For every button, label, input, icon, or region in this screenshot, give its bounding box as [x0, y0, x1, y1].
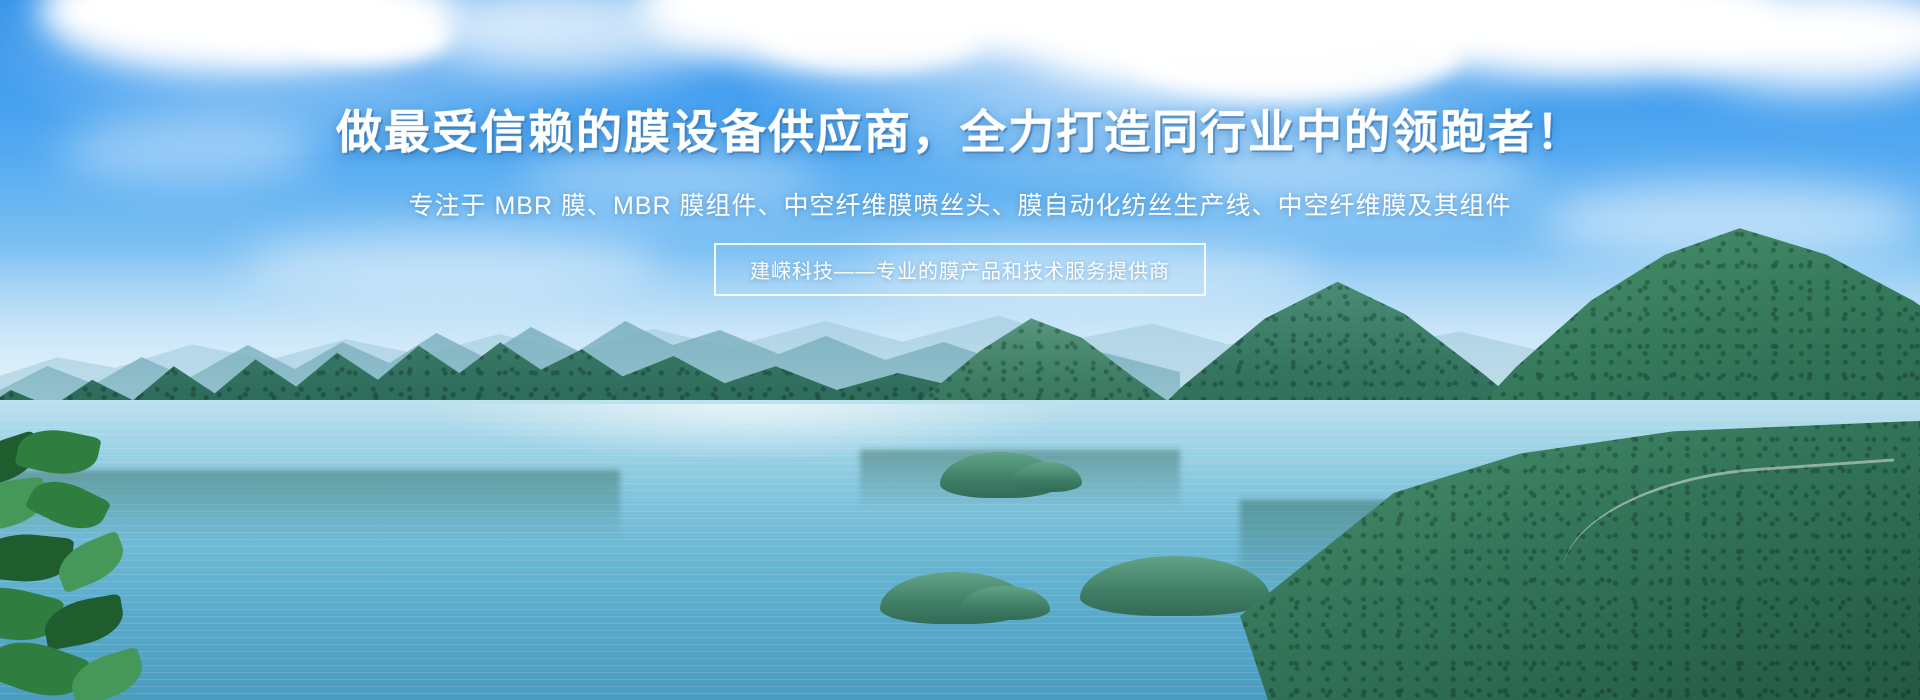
banner-tagline: 建嵘科技——专业的膜产品和技术服务提供商	[714, 243, 1206, 296]
banner-subheadline: 专注于 MBR 膜、MBR 膜组件、中空纤维膜喷丝头、膜自动化纺丝生产线、中空纤…	[0, 186, 1920, 222]
banner-text-overlay: 做最受信赖的膜设备供应商，全力打造同行业中的领跑者！ 专注于 MBR 膜、MBR…	[0, 0, 1920, 700]
hero-banner: 做最受信赖的膜设备供应商，全力打造同行业中的领跑者！ 专注于 MBR 膜、MBR…	[0, 0, 1920, 700]
banner-tagline-wrapper: 建嵘科技——专业的膜产品和技术服务提供商	[0, 243, 1920, 296]
banner-headline: 做最受信赖的膜设备供应商，全力打造同行业中的领跑者！	[0, 96, 1920, 162]
